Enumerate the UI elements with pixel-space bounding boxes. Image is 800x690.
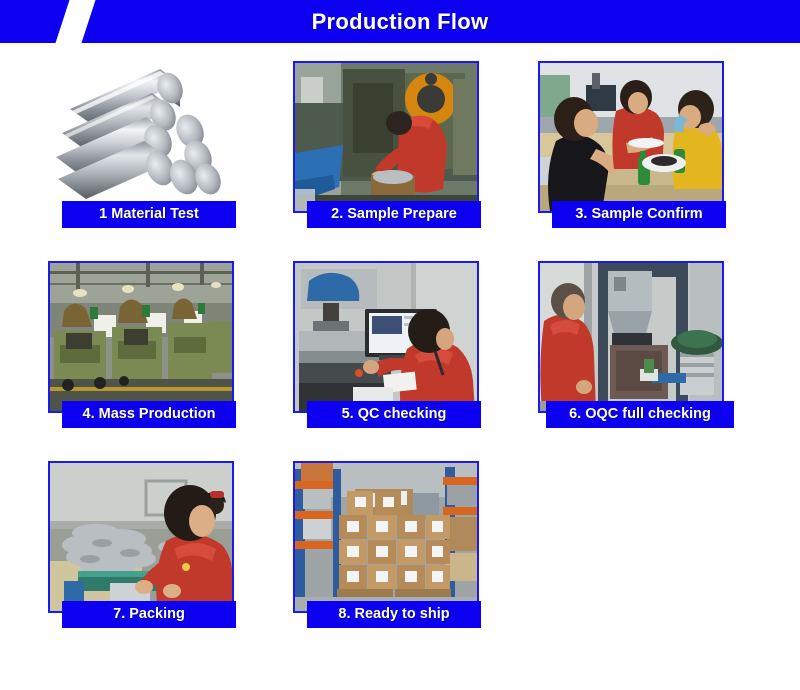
step-photo-5 [295, 263, 477, 411]
step-label-2: 2. Sample Prepare [307, 201, 481, 228]
step-label-3: 3. Sample Confirm [552, 201, 726, 228]
step-label-7: 7. Packing [62, 601, 236, 628]
step-photo-frame-6 [538, 261, 724, 413]
step-label-1: 1 Material Test [62, 201, 236, 228]
step-card-3[interactable]: 3. Sample Confirm [538, 61, 786, 213]
step-photo-6 [540, 263, 722, 411]
step-photo-8 [295, 463, 477, 611]
step-photo-frame-2 [293, 61, 479, 213]
step-photo-1 [48, 61, 234, 213]
step-label-6: 6. OQC full checking [546, 401, 734, 428]
page-header: Production Flow [0, 0, 800, 43]
step-photo-4 [50, 263, 232, 411]
step-label-5: 5. QC checking [307, 401, 481, 428]
step-card-6[interactable]: 6. OQC full checking [538, 261, 786, 413]
step-photo-frame-3 [538, 61, 724, 213]
page-title: Production Flow [0, 0, 800, 43]
step-photo-frame-7 [48, 461, 234, 613]
step-label-4: 4. Mass Production [62, 401, 236, 428]
step-card-7[interactable]: 7. Packing [48, 461, 296, 613]
production-flow-grid: 1 Material Test [0, 43, 800, 690]
step-photo-frame-4 [48, 261, 234, 413]
step-photo-frame-1 [48, 61, 234, 213]
step-card-2[interactable]: 2. Sample Prepare [293, 61, 541, 213]
step-label-8: 8. Ready to ship [307, 601, 481, 628]
step-photo-frame-8 [293, 461, 479, 613]
step-card-8[interactable]: 8. Ready to ship [293, 461, 541, 613]
step-photo-7 [50, 463, 232, 611]
step-card-5[interactable]: 5. QC checking [293, 261, 541, 413]
step-card-4[interactable]: 4. Mass Production [48, 261, 296, 413]
step-photo-2 [295, 63, 477, 211]
step-photo-3 [540, 63, 722, 211]
step-card-1[interactable]: 1 Material Test [48, 61, 296, 213]
step-photo-frame-5 [293, 261, 479, 413]
